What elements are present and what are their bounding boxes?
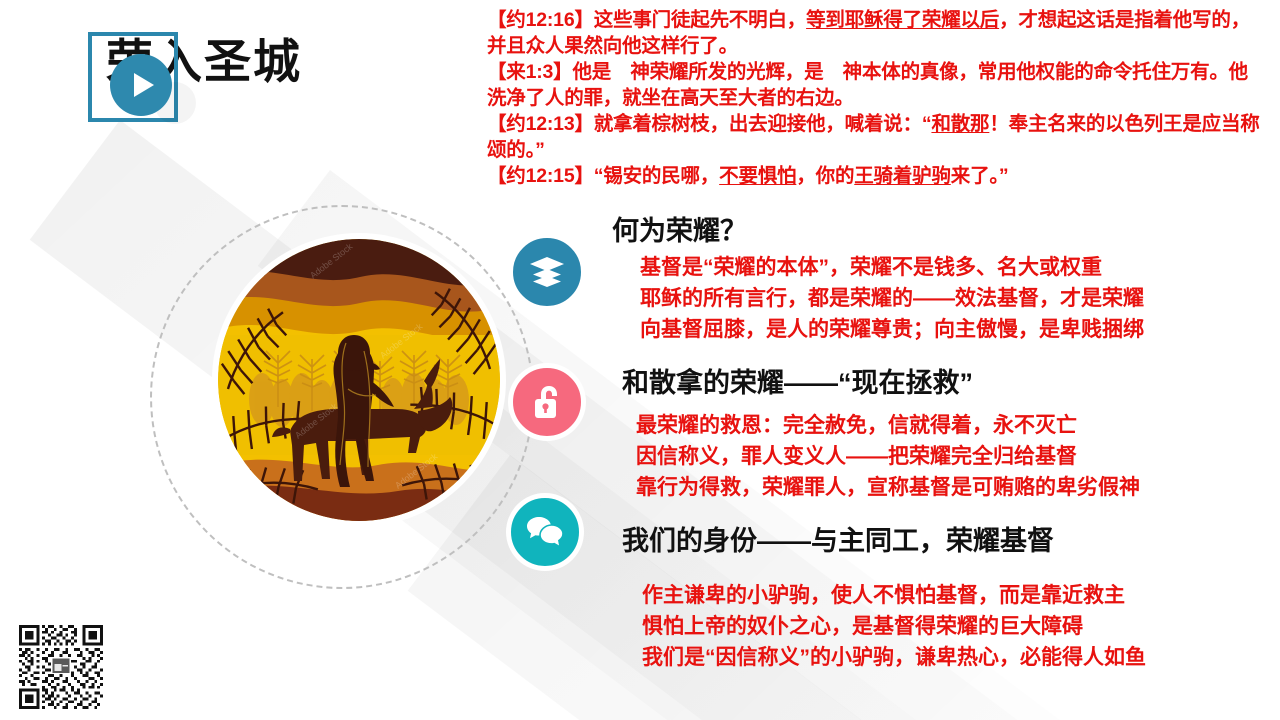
- illustration-image: Adobe Stock Adobe Stock Adobe Stock Adob…: [218, 239, 500, 521]
- section-heading: 我们的身份——与主同工，荣耀基督: [622, 524, 1146, 558]
- section-lines: 最荣耀的救恩：完全赦免，信就得着，永不灭亡 因信称义，罪人变义人——把荣耀完全归…: [622, 410, 1140, 503]
- qr-code-icon[interactable]: [19, 625, 103, 709]
- play-triangle-icon: [134, 73, 154, 97]
- section-our-identity: 我们的身份——与主同工，荣耀基督 作主谦卑的小驴驹，使人不惧怕基督，而是靠近救主…: [622, 524, 1146, 673]
- section-line: 因信称义，罪人变义人——把荣耀完全归给基督: [636, 441, 1140, 472]
- scripture-block: 【约12:16】这些事门徒起先不明白，等到耶稣得了荣耀以后，才想起这话是指着他写…: [487, 8, 1263, 191]
- section-line: 我们是“因信称义”的小驴驹，谦卑热心，必能得人如鱼: [642, 642, 1146, 673]
- scripture-emphasis: 等到耶稣得了荣耀以后: [806, 9, 999, 31]
- section-heading: 和散拿的荣耀——“现在拯救”: [622, 366, 1140, 400]
- scripture-line: 【来1:3】他是 神荣耀所发的光辉，是 神本体的真像，常用他权能的命令托住万有。…: [487, 60, 1263, 111]
- scripture-line: 【约12:13】就拿着棕树枝，出去迎接他，喊着说：“和散那！奉主名来的以色列王是…: [487, 112, 1263, 163]
- slide-logo: [88, 26, 408, 136]
- section-hosanna-glory: 和散拿的荣耀——“现在拯救” 最荣耀的救恩：完全赦免，信就得着，永不灭亡 因信称…: [622, 366, 1140, 503]
- scripture-emphasis: 不要惧怕: [719, 165, 796, 187]
- section-heading: 何为荣耀？: [612, 214, 1144, 248]
- scripture-reference: 【约12:16】: [487, 9, 594, 31]
- section-line: 靠行为得救，荣耀罪人，宣称基督是可贿赂的卑劣假神: [636, 472, 1140, 503]
- play-button-icon[interactable]: [110, 54, 172, 116]
- scripture-reference: 【约12:13】: [487, 113, 594, 135]
- section-what-is-glory: 何为荣耀？ 基督是“荣耀的本体”，荣耀不是钱多、名大或权重 耶稣的所有言行，都是…: [612, 214, 1144, 345]
- layers-icon[interactable]: [508, 233, 586, 311]
- section-line: 最荣耀的救恩：完全赦免，信就得着，永不灭亡: [636, 410, 1140, 441]
- section-line: 耶稣的所有言行，都是荣耀的——效法基督，才是荣耀: [640, 283, 1144, 314]
- scripture-text: 来了。”: [951, 165, 1009, 187]
- scripture-line: 【约12:16】这些事门徒起先不明白，等到耶稣得了荣耀以后，才想起这话是指着他写…: [487, 8, 1263, 59]
- scripture-text: 就拿着棕树枝，出去迎接他，喊着说：“: [594, 113, 932, 135]
- scripture-text: ，你的: [796, 165, 854, 187]
- section-lines: 作主谦卑的小驴驹，使人不惧怕基督，而是靠近救主 惧怕上帝的奴仆之心，是基督得荣耀…: [622, 580, 1146, 673]
- scripture-line: 【约12:15】“锡安的民哪，不要惧怕，你的王骑着驴驹来了。”: [487, 164, 1263, 190]
- scripture-emphasis: 王骑着驴驹: [854, 165, 951, 187]
- section-line: 作主谦卑的小驴驹，使人不惧怕基督，而是靠近救主: [642, 580, 1146, 611]
- scripture-text: 这些事门徒起先不明白，: [594, 9, 806, 31]
- scripture-reference: 【约12:15】: [487, 165, 594, 187]
- section-line: 基督是“荣耀的本体”，荣耀不是钱多、名大或权重: [640, 252, 1144, 283]
- slide-canvas: 荣入圣城 【约12:16】这些事门徒起先不明白，等到耶稣得了荣耀以后，才想起这话…: [0, 0, 1280, 720]
- scripture-text: “锡安的民哪，: [594, 165, 719, 187]
- section-line: 惧怕上帝的奴仆之心，是基督得荣耀的巨大障碍: [642, 611, 1146, 642]
- scripture-emphasis: 和散那: [931, 113, 989, 135]
- scripture-text: 他是 神荣耀所发的光辉，是 神本体的真像，常用他权能的命令托住万有。他洗净了人的…: [487, 61, 1248, 109]
- unlock-icon[interactable]: [508, 363, 586, 441]
- section-line: 向基督屈膝，是人的荣耀尊贵；向主傲慢，是卑贱捆绑: [640, 314, 1144, 345]
- section-lines: 基督是“荣耀的本体”，荣耀不是钱多、名大或权重 耶稣的所有言行，都是荣耀的——效…: [612, 252, 1144, 345]
- speech-bubbles-icon[interactable]: [506, 493, 584, 571]
- scripture-reference: 【来1:3】: [487, 61, 572, 83]
